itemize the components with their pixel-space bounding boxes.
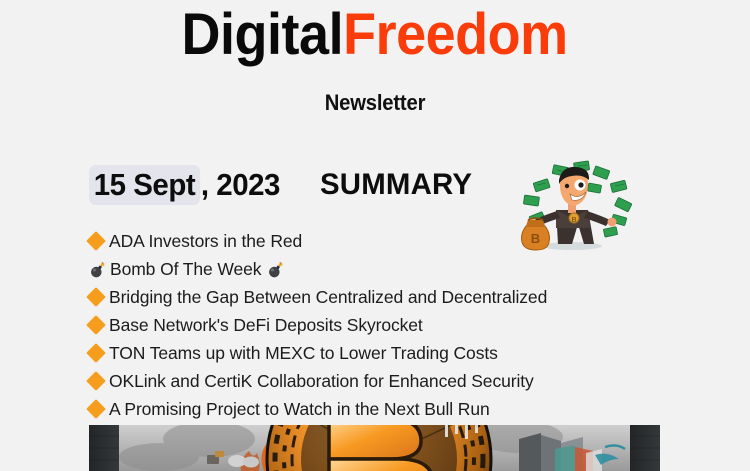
headline-text: ADA Investors in the Red — [109, 231, 302, 252]
bitcoin-symbol — [329, 425, 433, 471]
masthead-subtitle: Newsletter — [30, 90, 720, 116]
headline-list: ADA Investors in the RedBomb Of The Week… — [89, 227, 669, 423]
headline-item[interactable]: ADA Investors in the Red — [89, 227, 669, 255]
issue-date-year: , 2023 — [200, 167, 280, 202]
issue-date: 15 Sept, 2023 — [89, 167, 280, 203]
masthead: DigitalFreedom — [0, 6, 750, 64]
title-word-digital: Digital — [182, 2, 344, 67]
bomb-icon — [267, 261, 284, 278]
bomb-icon — [89, 261, 106, 278]
issue-date-highlight: 15 Sept — [89, 165, 200, 205]
headline-text: OKLink and CertiK Collaboration for Enha… — [109, 371, 534, 392]
headline-text: TON Teams up with MEXC to Lower Trading … — [109, 343, 498, 364]
newsletter-page: DigitalFreedom Newsletter 15 Sept, 2023 … — [0, 0, 750, 471]
masthead-title: DigitalFreedom — [182, 6, 568, 64]
diamond-bullet-icon — [86, 231, 106, 251]
diamond-bullet-icon — [86, 343, 106, 363]
headline-item[interactable]: Bomb Of The Week — [89, 255, 669, 283]
summary-heading: SUMMARY — [320, 168, 472, 202]
headline-text: Base Network's DeFi Deposits Skyrocket — [109, 315, 423, 336]
diamond-bullet-icon — [86, 315, 106, 335]
diamond-bullet-icon — [86, 371, 106, 391]
diamond-bullet-icon — [86, 287, 106, 307]
headline-item[interactable]: Bridging the Gap Between Centralized and… — [89, 283, 669, 311]
title-word-freedom: Freedom — [344, 2, 569, 67]
headline-text: A Promising Project to Watch in the Next… — [109, 399, 490, 420]
headline-item[interactable]: OKLink and CertiK Collaboration for Enha… — [89, 367, 669, 395]
headline-text: Bridging the Gap Between Centralized and… — [109, 287, 547, 308]
diamond-bullet-icon — [86, 399, 106, 419]
headline-text: Bomb Of The Week — [110, 259, 261, 280]
bitcoin-hero-image — [89, 425, 660, 471]
svg-text:B: B — [571, 217, 576, 224]
headline-item[interactable]: A Promising Project to Watch in the Next… — [89, 395, 669, 423]
headline-item[interactable]: Base Network's DeFi Deposits Skyrocket — [89, 311, 669, 339]
headline-item[interactable]: TON Teams up with MEXC to Lower Trading … — [89, 339, 669, 367]
